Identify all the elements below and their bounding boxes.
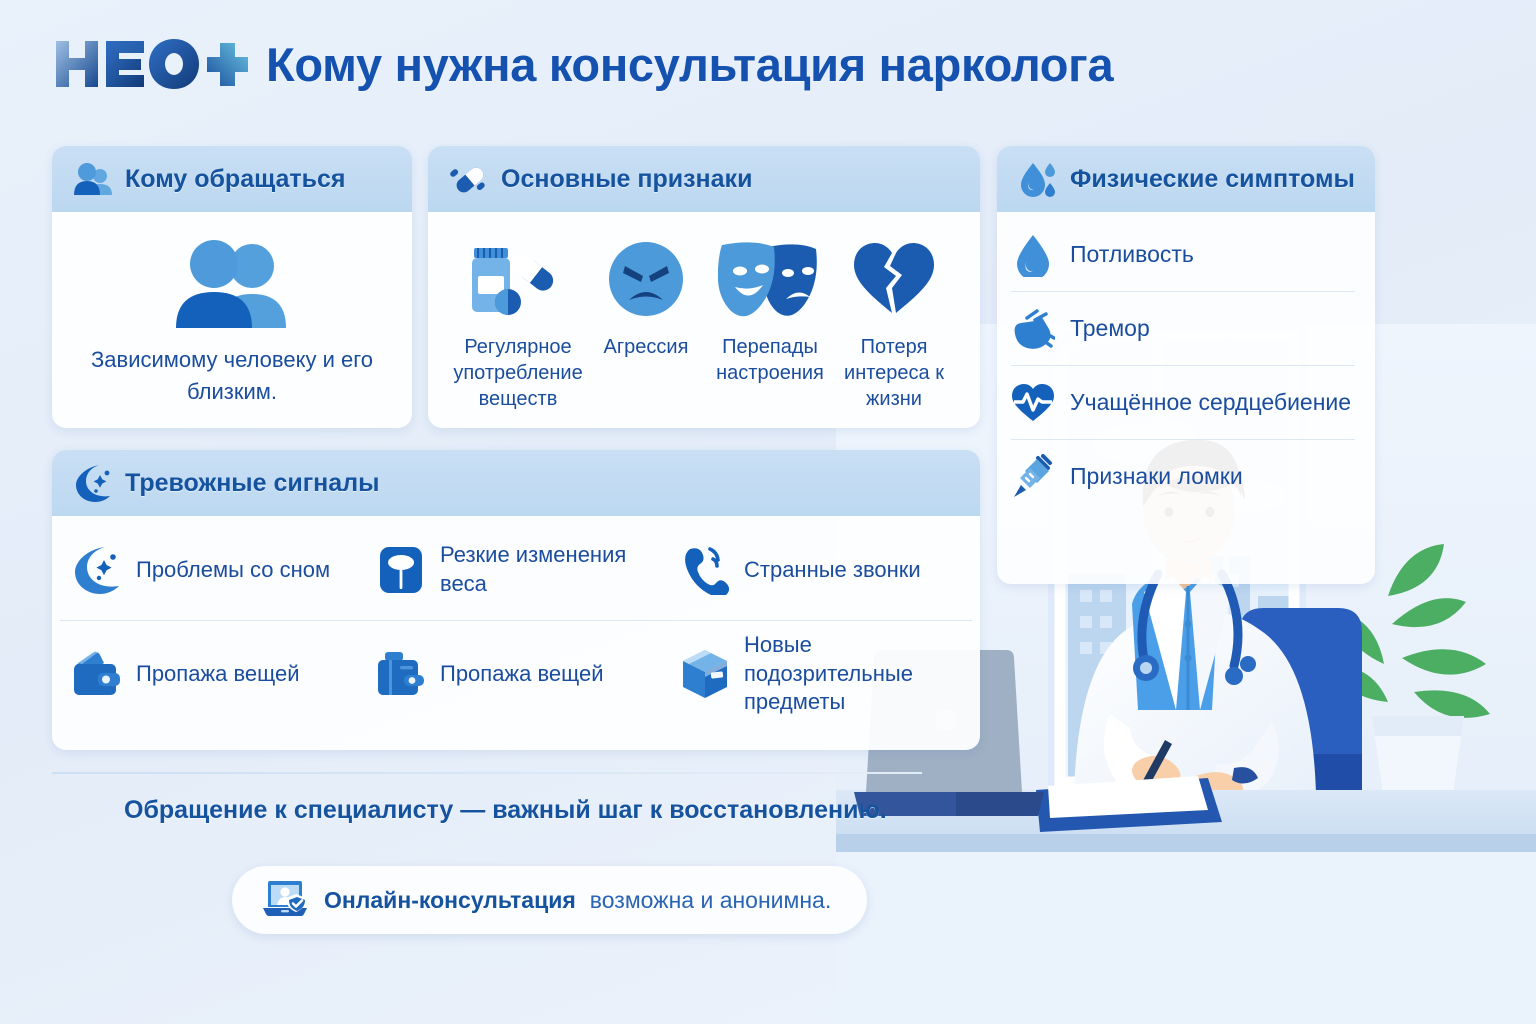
header-bar: Кому нужна консультация нарколога — [0, 0, 1536, 128]
theater-masks-icon — [718, 238, 822, 320]
weight-scale-icon — [376, 544, 426, 596]
broken-heart-icon — [852, 238, 936, 320]
bag-icon — [376, 648, 426, 700]
list-item-label: Странные звонки — [744, 556, 921, 585]
list-item: Странные звонки — [668, 520, 972, 620]
list-item-label: Пропажа вещей — [440, 660, 604, 689]
card-who-body: Зависимому человеку и его близким. — [52, 212, 412, 426]
card-who-header: Кому обращаться — [52, 146, 412, 212]
sign-label: Перепады настроения — [710, 334, 830, 386]
sign-item: Регулярное употребление веществ — [454, 238, 582, 412]
card-signs-body: Регулярное употребление веществ Агрессия — [428, 212, 980, 428]
list-item-label: Пропажа вещей — [136, 660, 300, 689]
badge-strong-text: Онлайн-консультация — [324, 887, 576, 914]
water-drop-icon — [1011, 232, 1055, 278]
office-chair — [1240, 608, 1362, 802]
crescent-moon-icon — [72, 544, 122, 596]
brand-logo — [52, 36, 248, 92]
list-item-label: Новые подозрительные предметы — [744, 631, 960, 717]
card-physical-title: Физические симптомы — [1070, 165, 1355, 194]
wallet-icon — [72, 648, 122, 700]
water-drops-icon — [1019, 160, 1057, 198]
card-who-text: Зависимому человеку и его близким. — [70, 344, 394, 408]
card-physical-header: Физические симптомы — [997, 146, 1375, 212]
sign-item: Перепады настроения — [710, 238, 830, 412]
sign-item: Потеря интереса к жизни — [834, 238, 954, 412]
shaking-hand-icon — [1011, 306, 1055, 352]
list-item: Резкие изменения веса — [364, 520, 668, 620]
badge-rest-text: возможна и анонимна. — [590, 887, 831, 914]
sign-label: Потеря интереса к жизни — [834, 334, 954, 412]
sign-label: Регулярное употребление веществ — [453, 334, 582, 412]
list-item-label: Признаки ломки — [1070, 462, 1243, 491]
list-item-label: Потливость — [1070, 240, 1194, 269]
list-item-label: Проблемы со сном — [136, 556, 330, 585]
box-icon — [680, 648, 730, 700]
list-item: Учащённое сердцебиение — [1011, 366, 1355, 440]
clipboard — [1036, 776, 1222, 832]
list-item-label: Учащённое сердцебиение — [1070, 388, 1351, 417]
footer-divider — [52, 772, 922, 774]
list-item: Новые подозрительные предметы — [668, 620, 972, 727]
syringe-icon — [1011, 454, 1055, 500]
card-physical-body: Потливость Тремор Учащённое сердце — [997, 212, 1375, 514]
card-who-to-contact: Кому обращаться Зависимому человеку и ег… — [52, 146, 412, 428]
card-alarm-signals: Тревожные сигналы Проблемы со сном — [52, 450, 980, 750]
card-who-title: Кому обращаться — [125, 165, 346, 194]
card-signs-header: Основные признаки — [428, 146, 980, 212]
phone-ringing-icon — [680, 544, 730, 596]
neo-plus-logo-icon — [52, 35, 248, 93]
card-signs-title: Основные признаки — [501, 165, 752, 194]
sign-item: Агрессия — [586, 238, 706, 412]
card-alarm-body: Проблемы со сном Резкие изменения веса — [52, 516, 980, 727]
laptop-verified-icon — [262, 880, 310, 920]
list-item: Потливость — [1011, 218, 1355, 292]
angry-face-icon — [607, 238, 685, 320]
list-item: Пропажа вещей — [60, 620, 364, 727]
list-item-label: Резкие изменения веса — [440, 541, 656, 598]
crescent-moon-icon — [74, 464, 112, 502]
card-alarm-header: Тревожные сигналы — [52, 450, 980, 516]
card-physical-symptoms: Физические симптомы Потливость Тр — [997, 146, 1375, 584]
list-item: Пропажа вещей — [364, 620, 668, 727]
list-item: Проблемы со сном — [60, 520, 364, 620]
card-alarm-title: Тревожные сигналы — [125, 469, 379, 498]
online-consultation-badge[interactable]: Онлайн-консультация возможна и анонимна. — [232, 866, 867, 934]
two-people-icon — [74, 160, 112, 198]
list-item: Тремор — [1011, 292, 1355, 366]
footer-note: Обращение к специалисту — важный шаг к в… — [52, 772, 922, 825]
two-people-icon — [170, 240, 294, 328]
sign-label: Агрессия — [604, 334, 689, 360]
pill-bottle-icon — [468, 238, 568, 320]
list-item: Признаки ломки — [1011, 440, 1355, 514]
page-title: Кому нужна консультация нарколога — [266, 37, 1113, 92]
card-main-signs: Основные признаки — [428, 146, 980, 428]
footer-note-text: Обращение к специалисту — важный шаг к в… — [52, 796, 922, 825]
capsule-pill-icon — [450, 160, 488, 198]
list-item-label: Тремор — [1070, 314, 1150, 343]
heartbeat-icon — [1011, 380, 1055, 426]
